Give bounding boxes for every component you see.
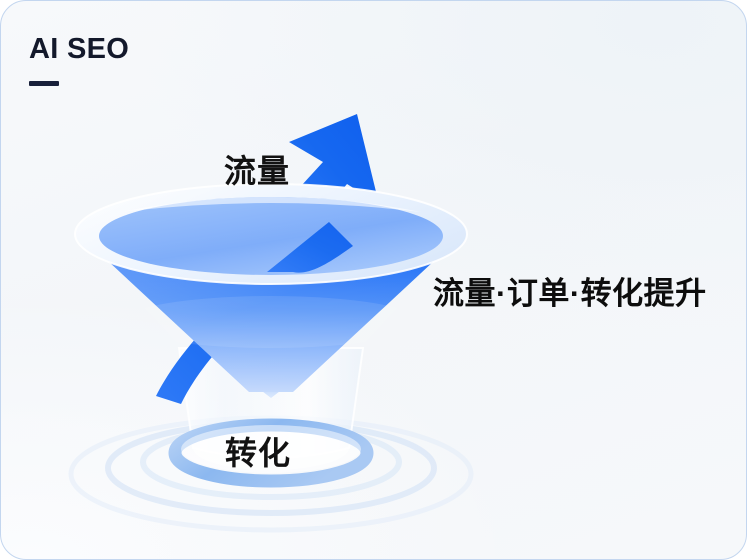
label-traffic: 流量	[224, 155, 290, 187]
label-conversion: 转化	[225, 437, 291, 469]
ai-seo-card: AI SEO	[0, 0, 747, 560]
page-title: AI SEO	[29, 35, 289, 64]
title-underline-rule	[29, 81, 59, 86]
card-header: AI SEO	[29, 35, 289, 86]
tagline: 流量·订单·转化提升	[433, 276, 707, 312]
